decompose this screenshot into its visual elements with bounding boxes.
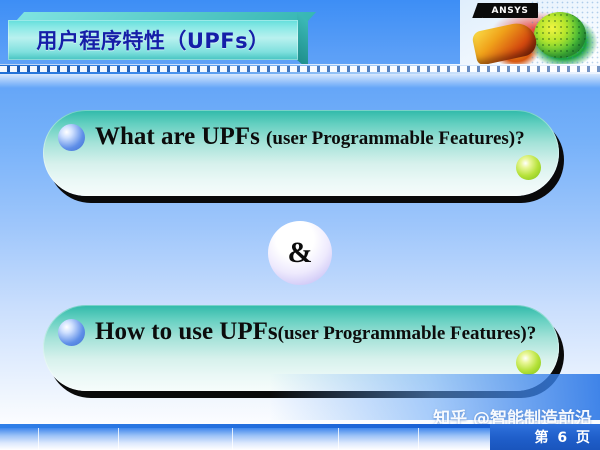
- ansys-wordmark-text: ANSYS: [492, 6, 529, 16]
- question-1-detail: (user Programmable Features)?: [266, 128, 525, 149]
- ansys-logo-image: ANSYS: [460, 0, 600, 68]
- slide-canvas: 用户程序特性（UPFs） ANSYS What are UPFs (user P…: [0, 0, 600, 450]
- ansys-wordmark-flag-icon: [472, 3, 487, 18]
- bullet-sphere-icon: [58, 124, 85, 151]
- accent-sphere-icon: [516, 350, 541, 375]
- page-title: 用户程序特性（UPFs）: [36, 25, 269, 55]
- golf-club-head-graphic: [471, 20, 539, 66]
- question-text-1: What are UPFs (user Programmable Feature…: [95, 121, 547, 155]
- footer-tick: [38, 428, 39, 450]
- connector-ampersand-badge: &: [268, 221, 332, 285]
- question-2-main: How to use UPFs: [95, 318, 278, 345]
- title-banner-face: 用户程序特性（UPFs）: [8, 20, 298, 60]
- accent-sphere-icon: [516, 155, 541, 180]
- page-number-badge: 第 6 页: [490, 424, 600, 450]
- footer-tick: [118, 428, 119, 450]
- question-text-2: How to use UPFs(user Programmable Featur…: [95, 316, 547, 350]
- title-banner-side-bevel: [297, 12, 308, 69]
- bullet-sphere-icon: [58, 319, 85, 346]
- band-glow-decoration: [0, 74, 600, 88]
- golf-ball-dimples-decoration: [534, 12, 586, 58]
- footer-tick: [418, 428, 419, 450]
- question-box-what-are-upfs: What are UPFs (user Programmable Feature…: [43, 110, 559, 196]
- connector-ampersand-text: &: [288, 236, 313, 270]
- slide-title-banner: 用户程序特性（UPFs）: [8, 12, 308, 60]
- question-1-main: What are UPFs: [95, 123, 266, 150]
- footer-tick: [338, 428, 339, 450]
- decorative-top-band: [0, 64, 600, 74]
- ansys-wordmark: ANSYS: [482, 3, 538, 18]
- footer-tick: [232, 428, 233, 450]
- band-highlight-line: [0, 64, 600, 65]
- band-dash-pattern: [0, 66, 600, 72]
- question-2-detail: (user Programmable Features)?: [278, 323, 537, 344]
- page-number-text: 第 6 页: [535, 427, 593, 447]
